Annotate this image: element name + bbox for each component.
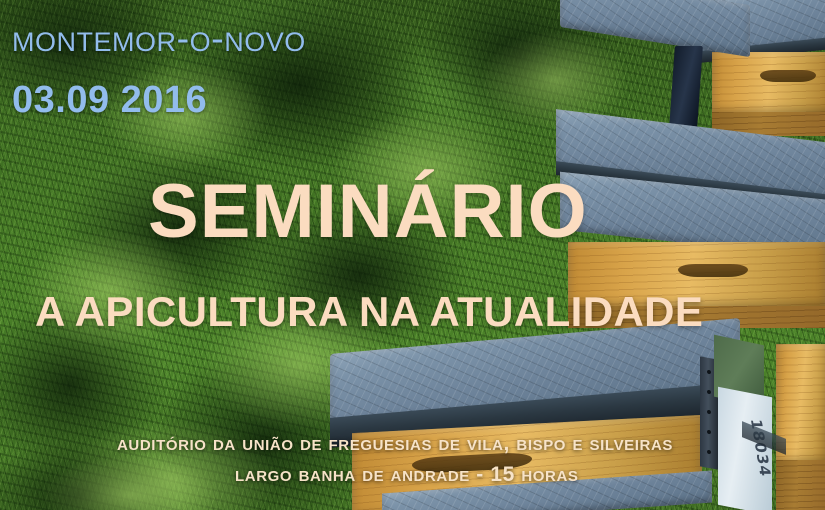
hive-white-panel: 18034 bbox=[718, 387, 772, 510]
poster-subtitle: A APICULTURA NA ATUALIDADE bbox=[35, 288, 703, 336]
poster-main-title: SEMINÁRIO bbox=[148, 168, 588, 255]
dark-post bbox=[669, 46, 703, 128]
seminar-poster: 18034 Montemor-o-Novo 03.09 2016 SEMINÁR… bbox=[0, 0, 825, 510]
poster-date-line: 03.09 2016 bbox=[12, 79, 207, 122]
hive-body-top-right bbox=[712, 52, 825, 114]
poster-address-time-line: Largo Banha de Andrade - 15 horas bbox=[235, 463, 579, 487]
poster-location-line: Montemor-o-Novo bbox=[12, 18, 306, 61]
poster-venue-line: Auditório da União de Freguesias de Vila… bbox=[117, 432, 673, 456]
hive-base-right-edge bbox=[776, 460, 825, 510]
